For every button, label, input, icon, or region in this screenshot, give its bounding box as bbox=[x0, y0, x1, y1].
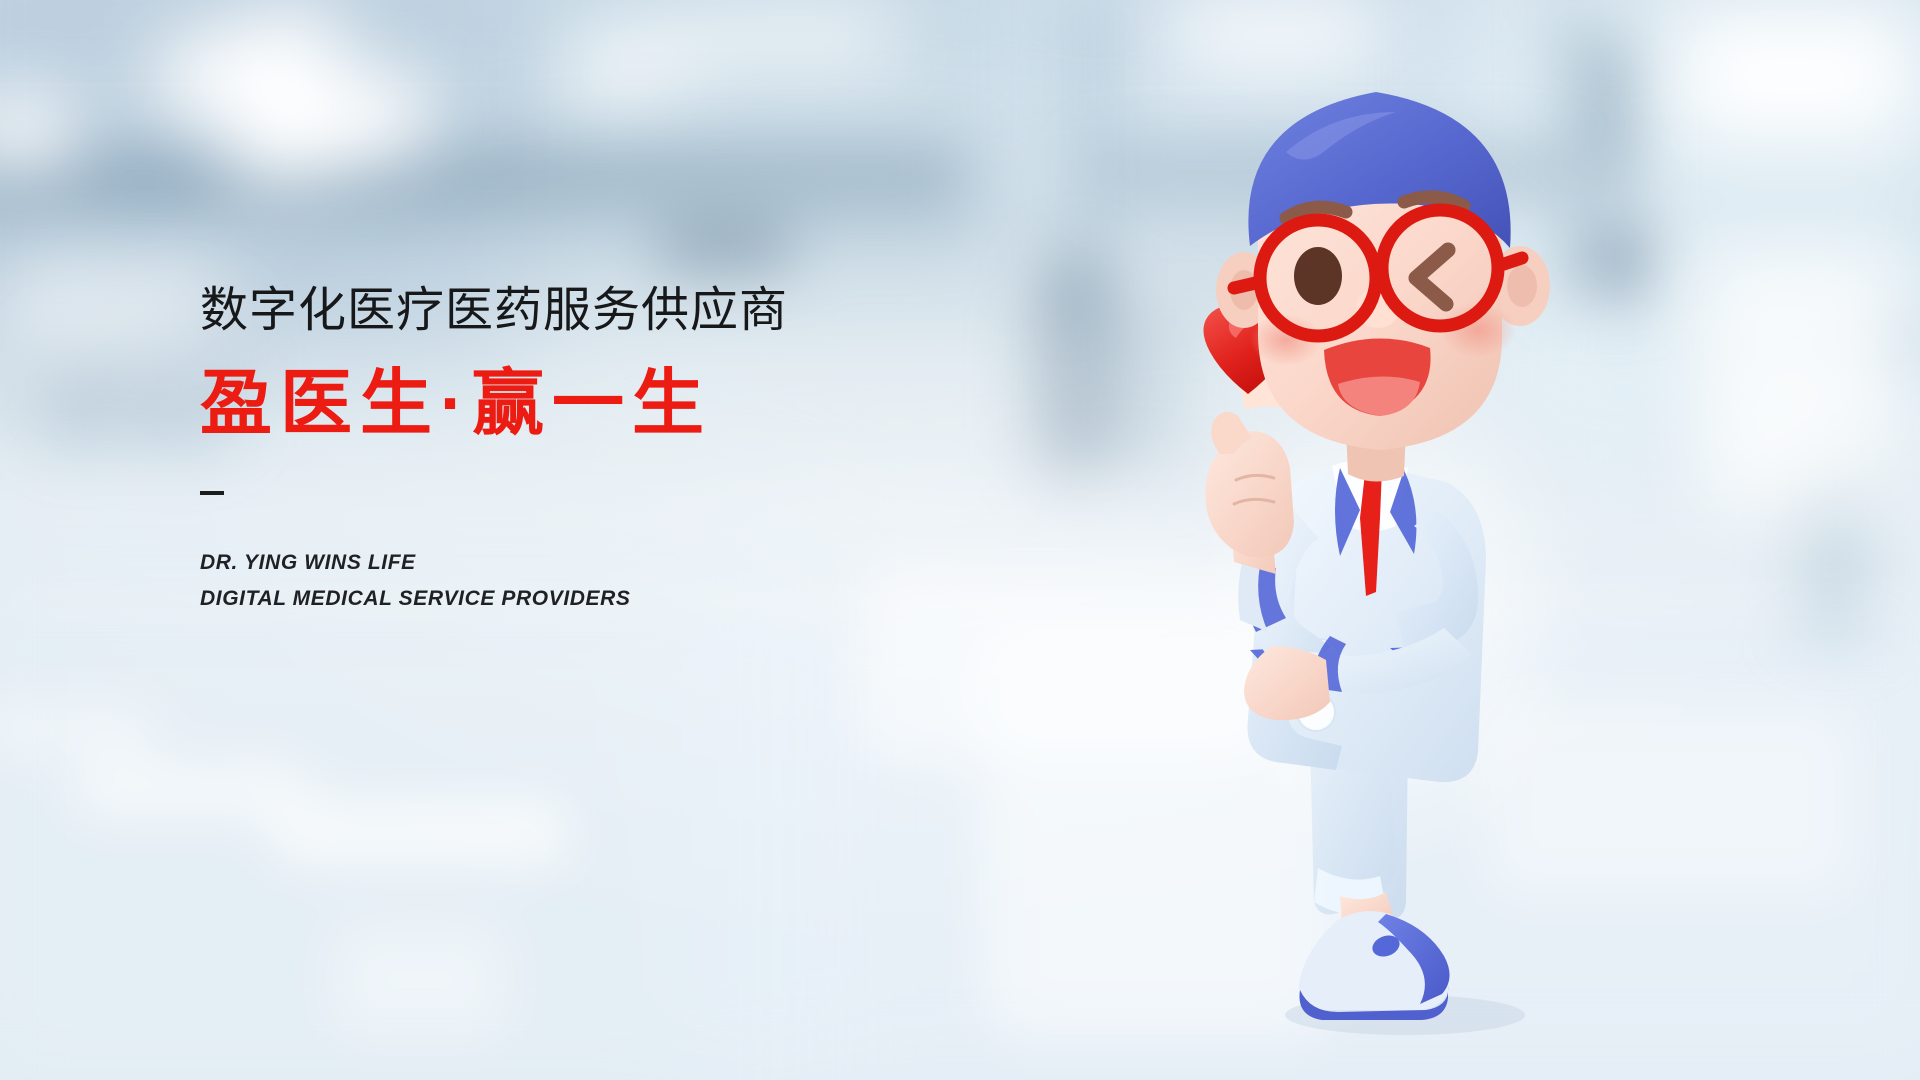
doctor-mascot-illustration bbox=[1190, 40, 1620, 1050]
hero-text-block: 数字化医疗医药服务供应商 盈医生·赢一生 DR. YING WINS LIFE … bbox=[200, 282, 960, 618]
character-shoes bbox=[1299, 911, 1450, 1020]
hero-subtitle-english: DR. YING WINS LIFE DIGITAL MEDICAL SERVI… bbox=[200, 545, 960, 619]
eye-open-left bbox=[1294, 247, 1342, 305]
hero-subtitle-line-1: DR. YING WINS LIFE bbox=[200, 545, 960, 582]
hero-banner: 数字化医疗医药服务供应商 盈医生·赢一生 DR. YING WINS LIFE … bbox=[0, 0, 1920, 1080]
hero-subtitle-line-2: DIGITAL MEDICAL SERVICE PROVIDERS bbox=[200, 581, 960, 618]
hero-headline-chinese: 盈医生·赢一生 bbox=[200, 362, 960, 447]
hero-divider bbox=[200, 491, 224, 495]
hero-eyebrow-chinese: 数字化医疗医药服务供应商 bbox=[200, 282, 960, 340]
